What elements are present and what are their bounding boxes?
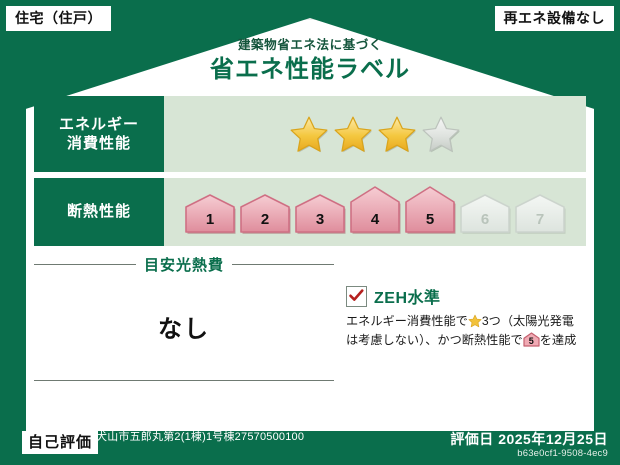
utility-cost-title: 目安光熱費 <box>144 254 224 275</box>
house-icon <box>514 193 566 235</box>
zeh-checkbox[interactable] <box>346 286 367 307</box>
row-insulation-label-text: 断熱性能 <box>67 202 131 221</box>
row-energy-performance: エネルギー 消費性能 <box>34 96 586 172</box>
zeh-block: ZEH水準 エネルギー消費性能で 3つ（太陽光発電 は考慮しない）、かつ断熱性能… <box>346 284 586 350</box>
page-title: 省エネ性能ラベル <box>0 55 620 85</box>
zeh-title: ZEH水準 <box>374 284 441 308</box>
house-icon <box>294 193 346 235</box>
row-insulation-label: 断熱性能 <box>34 178 164 246</box>
rule-left <box>34 264 136 265</box>
insulation-level-1: 1 <box>184 193 236 235</box>
house-icon <box>404 185 456 235</box>
evaluation-id: b63e0cf1-9508-4ec9 <box>517 448 608 459</box>
rule-right <box>232 264 334 265</box>
title-block: 建築物省エネ法に基づく 省エネ性能ラベル <box>0 38 620 85</box>
house-icon <box>184 193 236 235</box>
insulation-scale: 1234567 <box>184 185 566 239</box>
utility-cost-bottom-rule <box>34 380 334 381</box>
label-content: エネルギー 消費性能 断熱性能 1234567 目安光熱費 <box>34 96 586 421</box>
self-evaluation-badge: 自己評価 <box>22 431 98 454</box>
utility-cost-block: 目安光熱費 なし <box>34 254 334 381</box>
insulation-level-5: 5 <box>404 185 456 235</box>
inline-star-icon <box>468 314 482 328</box>
zeh-description: エネルギー消費性能で 3つ（太陽光発電 は考慮しない）、かつ断熱性能で 5 を達… <box>346 312 586 350</box>
evaluation-date: 評価日 2025年12月25日 <box>450 429 608 449</box>
star-empty-icon <box>420 113 462 155</box>
insulation-level-3: 3 <box>294 193 346 235</box>
row-energy-label-line1: エネルギー <box>59 115 139 134</box>
insulation-level-4: 4 <box>349 185 401 235</box>
insulation-level-7: 7 <box>514 193 566 235</box>
footer-bar: 自己評価 犬山市五郎丸第2(1棟)1号棟27570500100 評価日 2025… <box>0 425 620 465</box>
utility-cost-value: なし <box>34 275 334 380</box>
tag-renewable-energy: 再エネ設備なし <box>495 6 615 31</box>
zeh-desc-star-count: 3つ（太陽光発電 <box>482 314 574 328</box>
star-filled-icon <box>332 113 374 155</box>
zeh-heading: ZEH水準 <box>346 284 586 308</box>
row-insulation-value: 1234567 <box>164 178 586 246</box>
title-subtitle: 建築物省エネ法に基づく <box>0 38 620 53</box>
star-rating <box>288 113 462 155</box>
insulation-level-2: 2 <box>239 193 291 235</box>
property-address: 犬山市五郎丸第2(1棟)1号棟27570500100 <box>96 430 346 445</box>
insulation-level-6: 6 <box>459 193 511 235</box>
row-energy-value <box>164 96 586 172</box>
star-filled-icon <box>376 113 418 155</box>
house-icon <box>239 193 291 235</box>
star-filled-icon <box>288 113 330 155</box>
utility-cost-heading: 目安光熱費 <box>34 254 334 275</box>
zeh-desc-part1: エネルギー消費性能で <box>346 314 468 328</box>
lower-section: 目安光熱費 なし ZEH水準 エネルギー消費性能で <box>34 254 586 404</box>
row-insulation-performance: 断熱性能 1234567 <box>34 178 586 246</box>
zeh-desc-part2: は考慮しない）、かつ断熱性能で <box>346 333 523 347</box>
inline-house-icon: 5 <box>523 332 540 347</box>
house-icon <box>459 193 511 235</box>
zeh-desc-part3: を達成 <box>540 333 577 347</box>
label-board: 住宅（住戸） 再エネ設備なし 建築物省エネ法に基づく 省エネ性能ラベル エネルギ… <box>0 0 620 465</box>
house-icon <box>349 185 401 235</box>
row-energy-label-line2: 消費性能 <box>67 134 131 153</box>
inline-house-number: 5 <box>523 337 540 346</box>
tag-building-type: 住宅（住戸） <box>6 6 111 31</box>
row-energy-label: エネルギー 消費性能 <box>34 96 164 172</box>
